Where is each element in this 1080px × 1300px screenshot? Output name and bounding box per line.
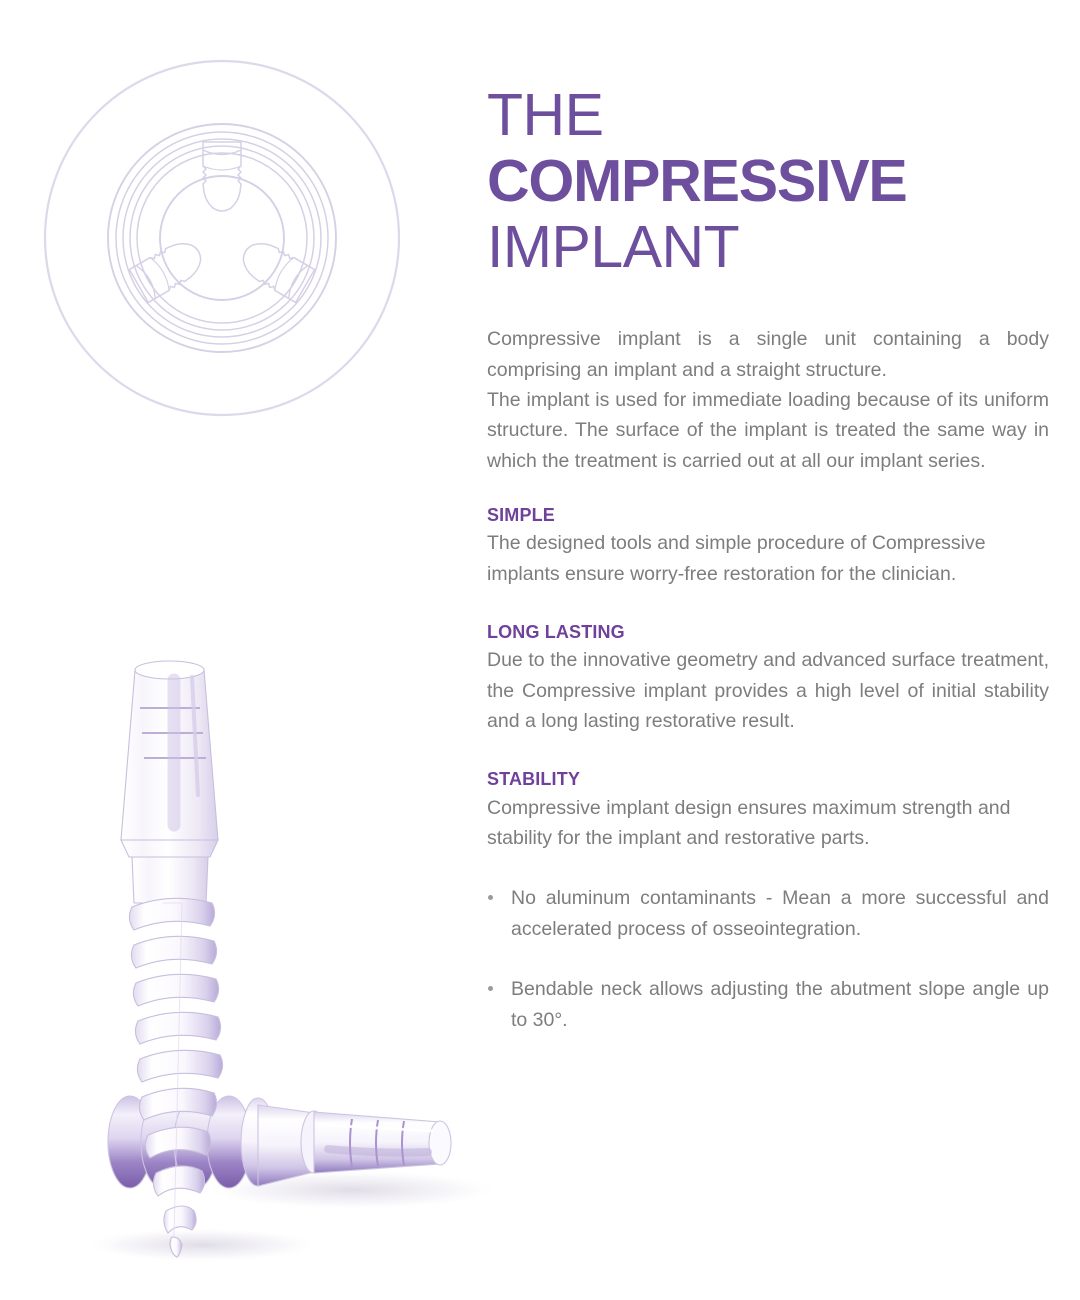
bullet-dot-icon bbox=[488, 986, 493, 991]
page-root: THE COMPRESSIVE IMPLANT Compressive impl… bbox=[0, 0, 1080, 1300]
content-column: THE COMPRESSIVE IMPLANT Compressive impl… bbox=[487, 82, 1047, 1035]
bullet-dot-icon bbox=[488, 895, 493, 900]
list-item: No aluminum contaminants - Mean a more s… bbox=[487, 883, 1049, 944]
section-stability: STABILITY Compressive implant design ens… bbox=[487, 766, 1049, 853]
feature-bullet-list: No aluminum contaminants - Mean a more s… bbox=[487, 883, 1049, 1035]
section-body-stability: Compressive implant design ensures maxim… bbox=[487, 793, 1049, 854]
list-item: Bendable neck allows adjusting the abutm… bbox=[487, 974, 1049, 1035]
bullet-text: Bendable neck allows adjusting the abutm… bbox=[511, 978, 1049, 1030]
logo-implant-trio bbox=[129, 142, 314, 302]
bullet-text: No aluminum contaminants - Mean a more s… bbox=[511, 887, 1049, 939]
logo-outer-circle bbox=[45, 61, 399, 415]
intro-paragraph-1: Compressive implant is a single unit con… bbox=[487, 324, 1049, 385]
intro-paragraph-2: The implant is used for immediate loadin… bbox=[487, 385, 1049, 476]
page-title: THE COMPRESSIVE IMPLANT bbox=[487, 82, 1047, 280]
section-simple: SIMPLE The designed tools and simple pro… bbox=[487, 502, 1049, 589]
product-photo bbox=[22, 645, 492, 1290]
title-line-compressive: COMPRESSIVE bbox=[487, 148, 1047, 214]
section-body-simple: The designed tools and simple procedure … bbox=[487, 528, 1049, 589]
section-body-long-lasting: Due to the innovative geometry and advan… bbox=[487, 645, 1049, 736]
logo-ring-band bbox=[108, 124, 336, 352]
title-line-the: THE bbox=[487, 82, 1047, 148]
section-heading-long-lasting: LONG LASTING bbox=[487, 619, 1049, 645]
section-long-lasting: LONG LASTING Due to the innovative geome… bbox=[487, 619, 1049, 736]
title-line-implant: IMPLANT bbox=[487, 214, 1047, 280]
body-block: Compressive implant is a single unit con… bbox=[487, 324, 1049, 1035]
logo-watermark bbox=[38, 54, 406, 422]
section-heading-stability: STABILITY bbox=[487, 766, 1049, 792]
section-heading-simple: SIMPLE bbox=[487, 502, 1049, 528]
